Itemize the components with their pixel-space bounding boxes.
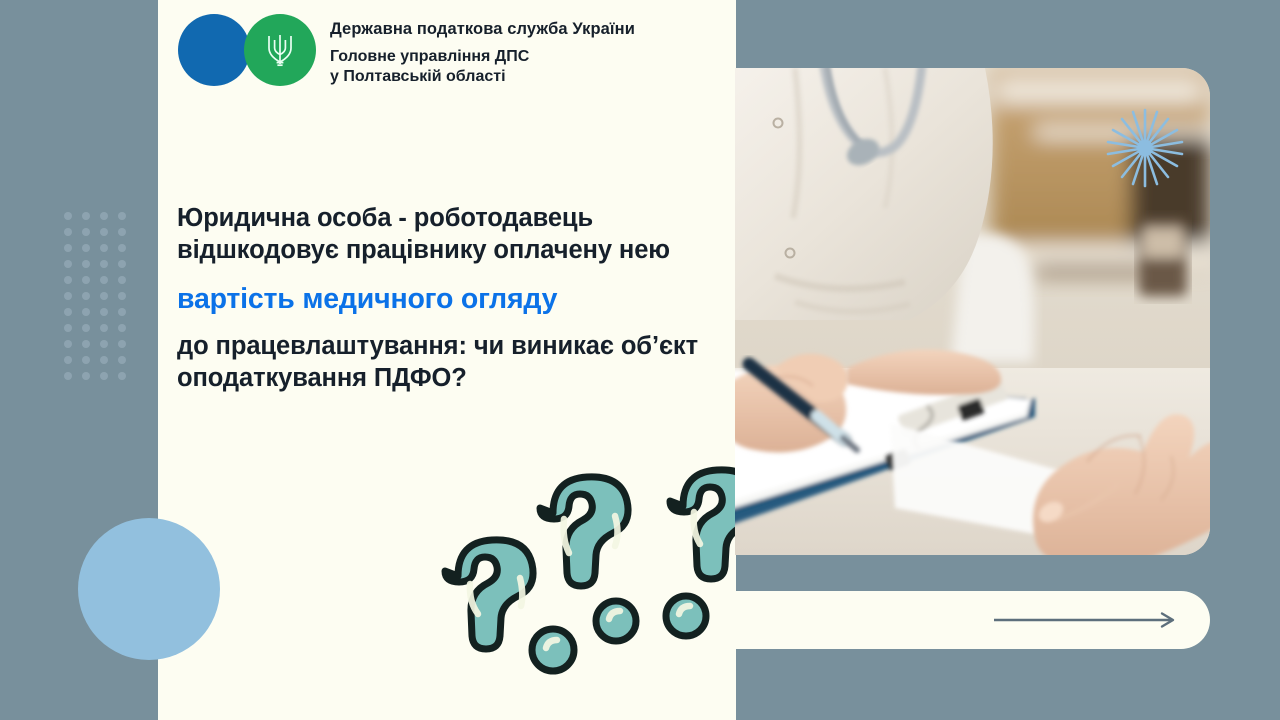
brand-header: Державна податкова служба України Головн…: [178, 14, 635, 86]
headline-block: Юридична особа - роботодавець відшкодову…: [177, 203, 722, 395]
doctor-consultation-photo: [735, 68, 1210, 555]
headline-accent: вартість медичного огляду: [177, 282, 722, 316]
headline-lead: Юридична особа - роботодавець відшкодову…: [177, 203, 722, 266]
dot-grid-pattern: [64, 212, 136, 388]
content-card: Державна податкова служба України Головн…: [158, 0, 736, 720]
pale-blue-circle-icon: [78, 518, 220, 660]
brand-line-1: Державна податкова служба України: [330, 20, 635, 39]
blue-circle-mark-icon: [178, 14, 250, 86]
slide-canvas: Державна податкова служба України Головн…: [0, 0, 1280, 720]
brand-line-3: у Полтавській області: [330, 68, 635, 86]
next-arrow-bar[interactable]: [735, 591, 1210, 649]
agency-logo: [178, 14, 316, 86]
brand-text: Державна податкова служба України Головн…: [330, 14, 635, 86]
arrow-right-icon[interactable]: [992, 611, 1182, 629]
three-question-marks-illustration: [440, 458, 736, 678]
brand-line-2: Головне управління ДПС: [330, 48, 635, 66]
green-circle-mark-icon: [244, 14, 316, 86]
headline-tail: до працевлаштування: чи виникає об’єкт о…: [177, 331, 722, 394]
ukraine-trident-icon: [265, 31, 295, 69]
